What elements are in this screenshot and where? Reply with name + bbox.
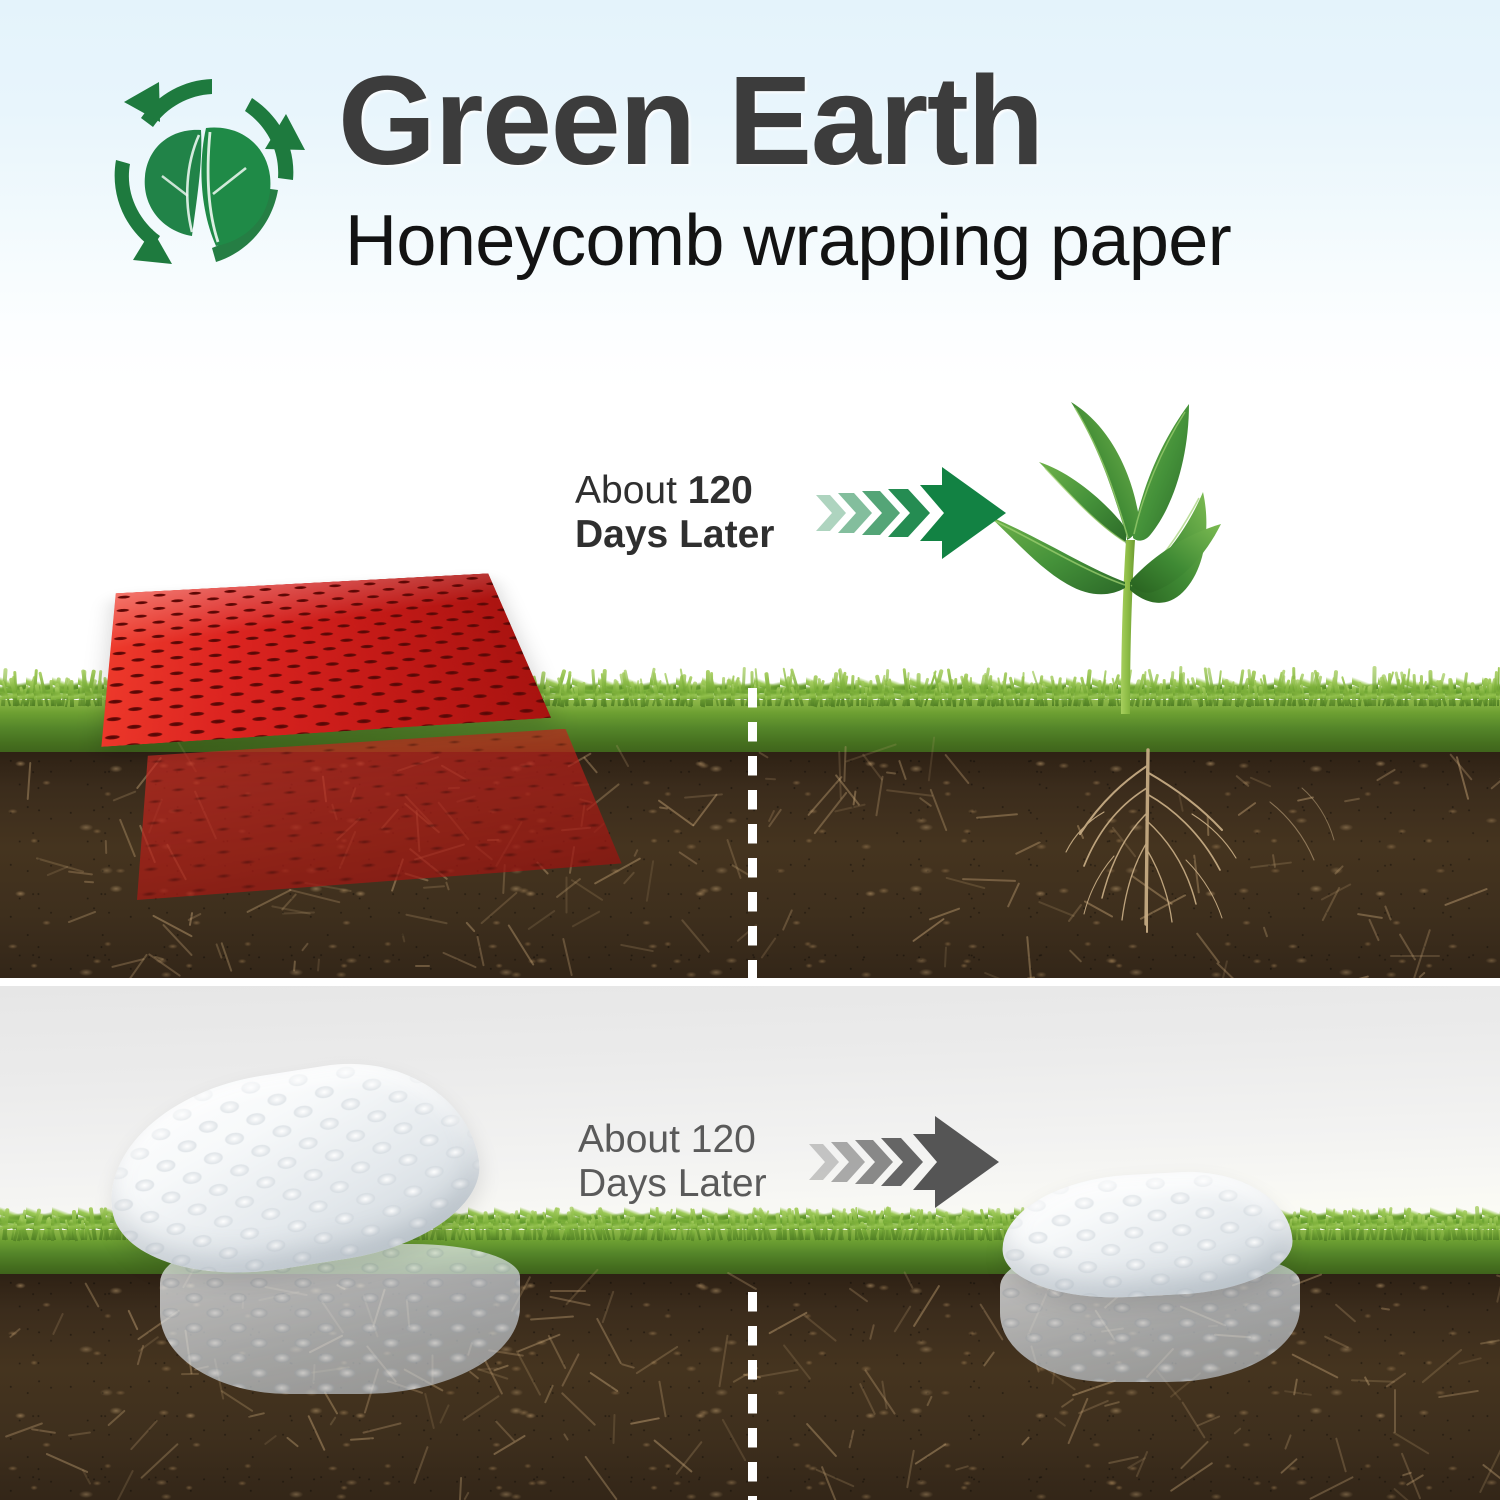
callout-text-honeycomb: About 120 Days Later <box>575 469 774 556</box>
header-banner: Green Earth Honeycomb wrapping paper <box>0 0 1500 390</box>
vertical-dashed-divider-top <box>748 688 757 978</box>
callout-text-plastic: About 120 Days Later <box>578 1118 767 1205</box>
callout-plastic: About 120 Days Later <box>578 1114 1003 1210</box>
page-subtitle: Honeycomb wrapping paper <box>345 205 1231 277</box>
red-honeycomb-wrapping-paper <box>104 438 556 732</box>
honeycomb-paper-buried-portion <box>150 742 570 938</box>
green-seedling <box>975 392 1315 722</box>
callout-days-value-plastic: 120 <box>691 1118 756 1161</box>
callout-about-label-plastic: About <box>578 1118 691 1161</box>
seedling-roots <box>1040 748 1340 938</box>
clear-plastic-bubble-wrap-roll-after <box>999 1166 1295 1303</box>
page-title: Green Earth <box>338 58 1043 184</box>
plastic-bubble-wrap-panel: About 120 Days Later <box>0 986 1500 1500</box>
callout-honeycomb: About 120 Days Later <box>575 465 1010 561</box>
infographic-canvas: About 120 Days Later <box>0 0 1500 1500</box>
chevron-arrow-right-icon <box>814 465 1010 561</box>
callout-days-value: 120 <box>688 469 753 512</box>
callout-days-later-label: Days Later <box>575 513 774 557</box>
callout-days-later-label-plastic: Days Later <box>578 1162 767 1206</box>
recycle-leaves-icon <box>100 72 310 277</box>
callout-about-label: About <box>575 469 688 512</box>
vertical-dashed-divider-bottom <box>748 1292 757 1500</box>
chevron-arrow-right-icon-gray <box>807 1114 1003 1210</box>
